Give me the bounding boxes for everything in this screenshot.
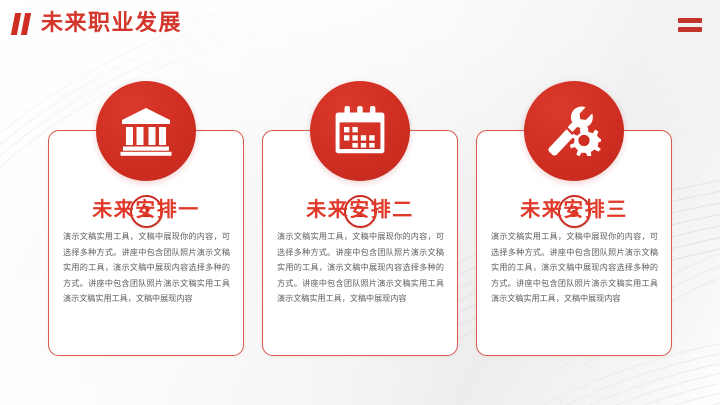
menu-bar-bottom	[678, 27, 702, 32]
card-icon-circle	[310, 81, 410, 181]
menu-bar-top	[678, 18, 702, 23]
card-body-text: 演示文稿实用工具，文稿中展现你的内容，可选择多种方式。讲座中包含团队照片演示文稿…	[491, 229, 658, 307]
bank-building-icon	[96, 81, 196, 181]
card-heading: 未来安排三	[477, 193, 671, 222]
card-heading: 未来安排一	[49, 193, 243, 222]
calendar-icon	[310, 81, 410, 181]
card-item[interactable]: 2 未来安排二 演示文稿实用工具，文稿中展现你的内容，可选择多种方式。讲座中包含…	[262, 130, 458, 356]
title-accent-marks	[13, 13, 29, 35]
card-item[interactable]: 3 未来安排三 演示文稿实用工具，文稿中展现你的内容，可选择多种方式。讲座中包含…	[476, 130, 672, 356]
title-accent-bar-1	[11, 13, 21, 35]
card-icon-circle	[96, 81, 196, 181]
card-heading: 未来安排二	[263, 193, 457, 222]
card-icon-circle	[524, 81, 624, 181]
card-body-text: 演示文稿实用工具，文稿中展现你的内容，可选择多种方式。讲座中包含团队照片演示文稿…	[277, 229, 444, 307]
title-accent-bar-2	[21, 13, 31, 35]
wrench-gear-icon	[524, 81, 624, 181]
card-item[interactable]: 1 未来安排一 演示文稿实用工具，文稿中展现你的内容，可选择多种方式。讲座中包含…	[48, 130, 244, 356]
hamburger-equals-icon[interactable]	[678, 18, 702, 32]
slide-header: 未来职业发展	[0, 0, 720, 48]
card-body-text: 演示文稿实用工具，文稿中展现你的内容，可选择多种方式。讲座中包含团队照片演示文稿…	[63, 229, 230, 307]
card-row: 1 未来安排一 演示文稿实用工具，文稿中展现你的内容，可选择多种方式。讲座中包含…	[48, 130, 672, 356]
page-title: 未来职业发展	[41, 10, 182, 38]
slide-canvas: 未来职业发展	[0, 0, 720, 405]
